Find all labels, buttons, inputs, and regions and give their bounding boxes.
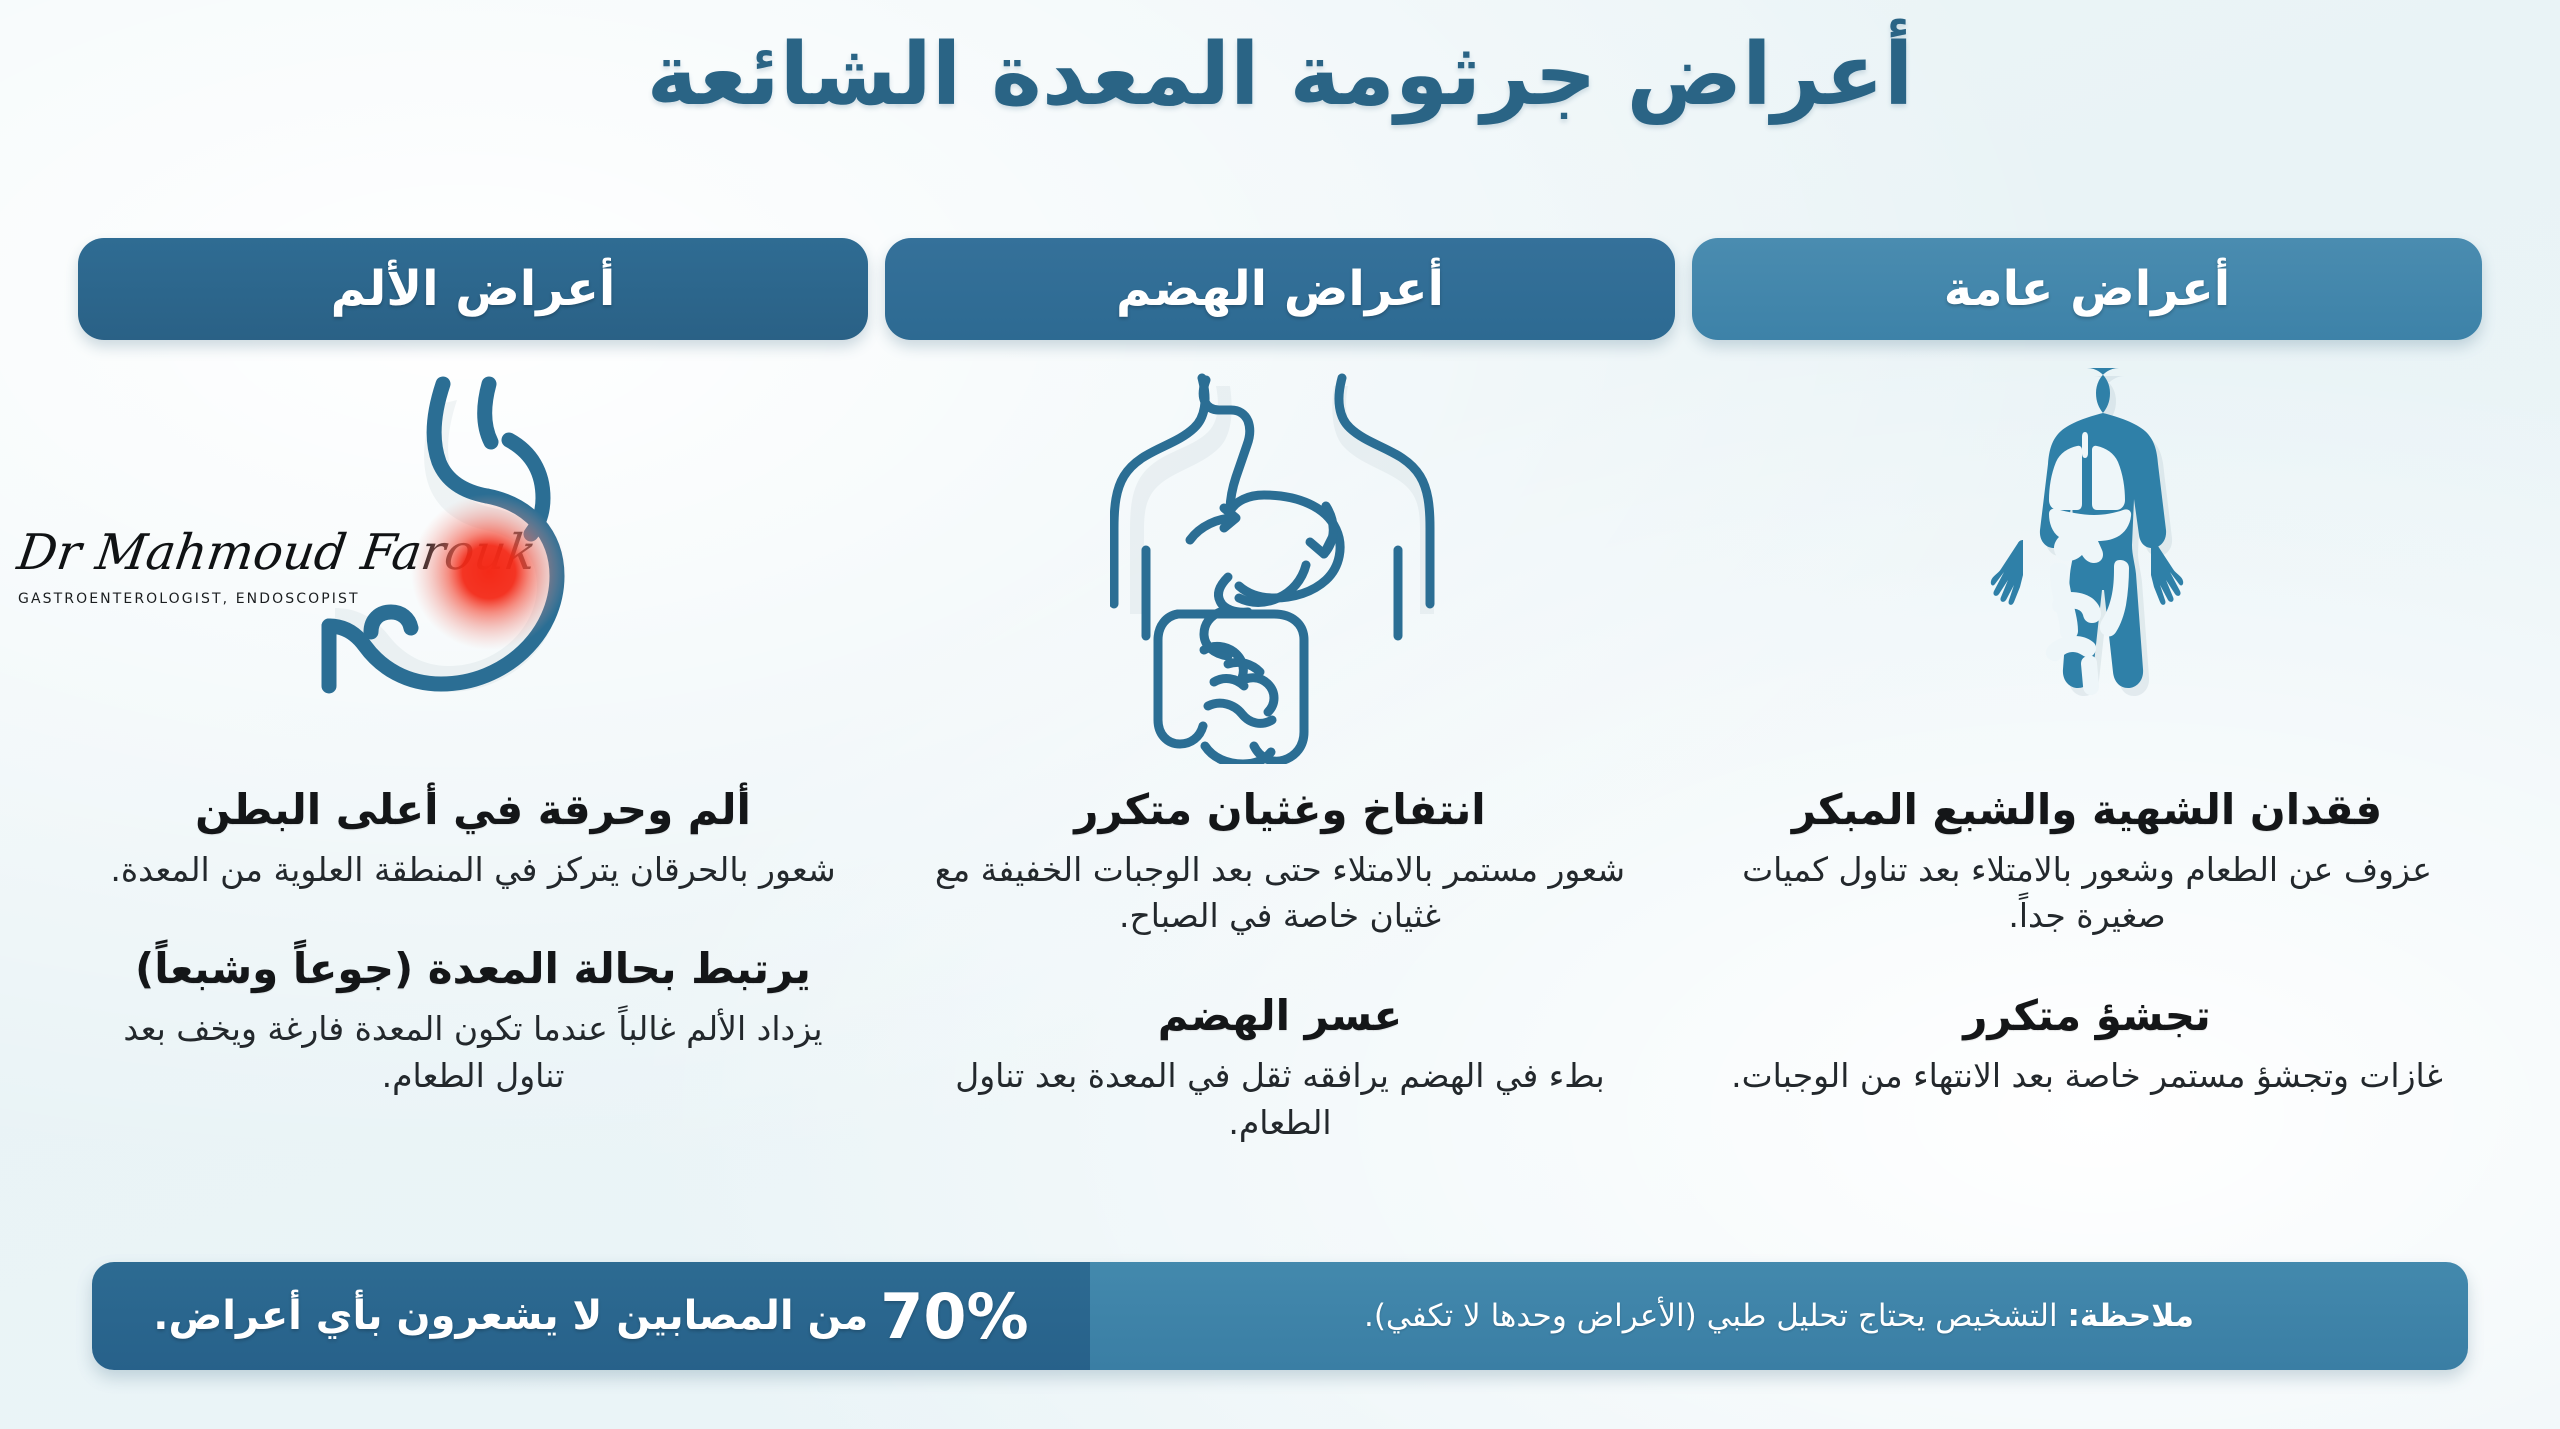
stomach-pain-icon [78, 354, 868, 774]
column-digestive-symptoms: أعراض الهضم [885, 238, 1675, 1238]
footer-note-prefix: ملاحظة: [2067, 1298, 2193, 1334]
entry-description: عزوف عن الطعام وشعور بالامتلاء بعد تناول… [1692, 847, 2482, 941]
entry-description: يزداد الألم غالباً عندما تكون المعدة فار… [78, 1006, 868, 1100]
entry-description: شعور مستمر بالامتلاء حتى بعد الوجبات الخ… [885, 847, 1675, 941]
pill-general-symptoms[interactable]: أعراض عامة [1692, 238, 2482, 340]
entry-item: عسر الهضم بطء في الهضم يرافقه ثقل في الم… [885, 990, 1675, 1146]
entry-title: انتفاخ وغثيان متكرر [885, 784, 1675, 837]
infographic-root: أعراض جرثومة المعدة الشائعة Dr Mahmoud F… [0, 0, 2560, 1429]
entry-title: تجشؤ متكرر [1692, 990, 2482, 1043]
entry-item: ألم وحرقة في أعلى البطن شعور بالحرقان يت… [78, 784, 868, 893]
statistic-percent: 70% [880, 1280, 1028, 1353]
entry-title: فقدان الشهية والشبع المبكر [1692, 784, 2482, 837]
entry-description: بطء في الهضم يرافقه ثقل في المعدة بعد تن… [885, 1053, 1675, 1147]
entry-description: شعور بالحرقان يتركز في المنطقة العلوية م… [78, 847, 868, 894]
column-pain-symptoms: أعراض الألم [78, 238, 868, 1238]
entry-description: غازات وتجشؤ مستمر خاصة بعد الانتهاء من ا… [1692, 1053, 2482, 1100]
entries-pain: ألم وحرقة في أعلى البطن شعور بالحرقان يت… [78, 784, 868, 1100]
entry-title: ألم وحرقة في أعلى البطن [78, 784, 868, 837]
digestive-system-icon [885, 354, 1675, 774]
entries-general: فقدان الشهية والشبع المبكر عزوف عن الطعا… [1692, 784, 2482, 1100]
entry-item: يرتبط بحالة المعدة (جوعاً وشبعاً) يزداد … [78, 943, 868, 1099]
column-general-symptoms: أعراض عامة [1692, 238, 2482, 1238]
entry-title: عسر الهضم [885, 990, 1675, 1043]
pill-pain-symptoms[interactable]: أعراض الألم [78, 238, 868, 340]
symptom-columns: أعراض عامة [0, 238, 2560, 1238]
entry-item: تجشؤ متكرر غازات وتجشؤ مستمر خاصة بعد ال… [1692, 990, 2482, 1099]
footer-bar: ملاحظة: التشخيص يحتاج تحليل طبي (الأعراض… [92, 1262, 2468, 1370]
entries-digestive: انتفاخ وغثيان متكرر شعور مستمر بالامتلاء… [885, 784, 1675, 1146]
footer-note: ملاحظة: التشخيص يحتاج تحليل طبي (الأعراض… [1090, 1262, 2468, 1370]
footer-statistic: 70% من المصابين لا يشعرون بأي أعراض. [92, 1262, 1090, 1370]
statistic-text: من المصابين لا يشعرون بأي أعراض. [153, 1293, 868, 1339]
entry-item: انتفاخ وغثيان متكرر شعور مستمر بالامتلاء… [885, 784, 1675, 940]
human-body-organs-icon [1692, 354, 2482, 774]
pill-digestive-symptoms[interactable]: أعراض الهضم [885, 238, 1675, 340]
footer-note-text: التشخيص يحتاج تحليل طبي (الأعراض وحدها ل… [1364, 1298, 2058, 1334]
entry-item: فقدان الشهية والشبع المبكر عزوف عن الطعا… [1692, 784, 2482, 940]
page-title: أعراض جرثومة المعدة الشائعة [0, 26, 2560, 125]
entry-title: يرتبط بحالة المعدة (جوعاً وشبعاً) [78, 943, 868, 996]
